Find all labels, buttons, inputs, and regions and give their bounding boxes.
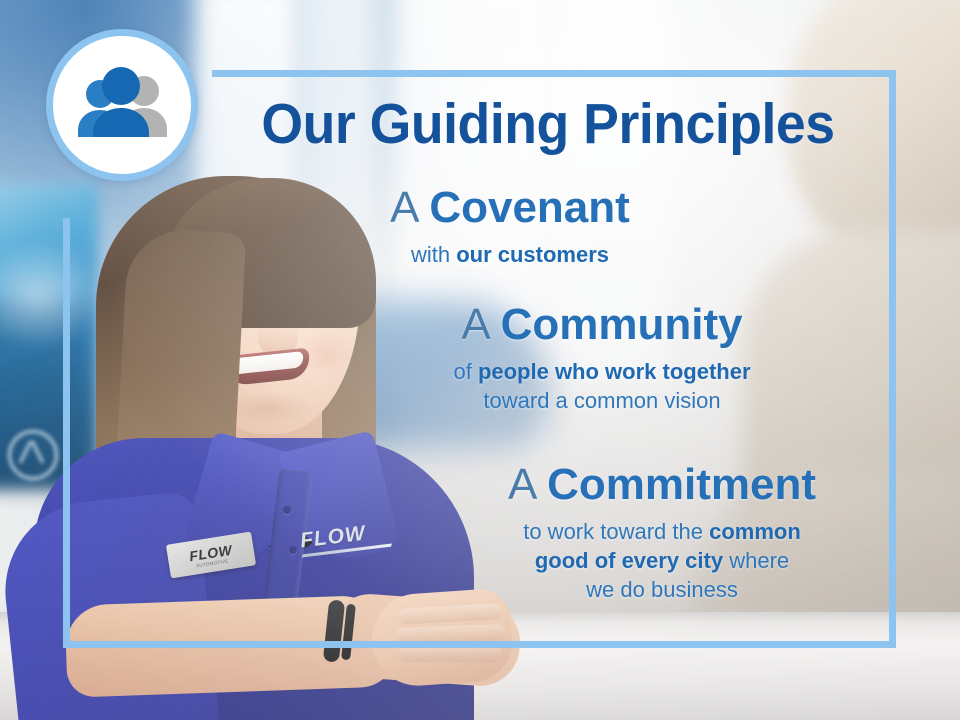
principle-article: A — [508, 460, 535, 509]
principle-commitment: A Commitment to work toward the commongo… — [452, 463, 872, 604]
guiding-principles-banner: FLOW FLOW AUTOMOTIVE — [0, 0, 960, 720]
principle-subtext-line: to work toward the common — [452, 517, 872, 546]
principle-community: A Community of people who work togethert… — [392, 303, 812, 415]
finger — [398, 646, 502, 662]
principle-community-title: A Community — [392, 303, 812, 348]
principle-subtext-emphasis: good of every city — [535, 548, 723, 573]
principle-subtext-emphasis: people who work together — [478, 359, 751, 384]
principle-article: A — [461, 300, 488, 349]
principle-subtext-line: with our customers — [340, 240, 680, 269]
principle-covenant-title: A Covenant — [340, 186, 680, 231]
principle-subtext-line: of people who work together — [392, 357, 812, 386]
principle-commitment-subtext: to work toward the commongood of every c… — [452, 517, 872, 604]
principle-subtext-run: toward a common vision — [483, 388, 720, 413]
principle-keyword: Commitment — [547, 460, 816, 509]
principle-subtext-run: to work toward the — [523, 519, 709, 544]
principle-covenant: A Covenant with our customers — [340, 186, 680, 269]
principle-subtext-emphasis: our customers — [456, 242, 609, 267]
principle-keyword: Community — [501, 300, 743, 349]
page-title: Our Guiding Principles — [238, 96, 858, 153]
principle-subtext-run: we do business — [586, 577, 738, 602]
principle-subtext-emphasis: common — [709, 519, 801, 544]
people-group-icon — [70, 67, 174, 143]
principle-covenant-subtext: with our customers — [340, 240, 680, 269]
principle-subtext-line: we do business — [452, 575, 872, 604]
principle-subtext-run: with — [411, 242, 456, 267]
principle-community-subtext: of people who work togethertoward a comm… — [392, 357, 812, 415]
principle-commitment-title: A Commitment — [452, 463, 872, 508]
polo-button — [289, 546, 297, 554]
polo-button — [283, 506, 291, 514]
principle-subtext-run: of — [453, 359, 477, 384]
principle-keyword: Covenant — [429, 183, 629, 232]
principle-subtext-line: toward a common vision — [392, 386, 812, 415]
principle-subtext-line: good of every city where — [452, 546, 872, 575]
principle-article: A — [390, 183, 417, 232]
people-group-icon-badge — [46, 29, 198, 181]
principle-subtext-run: where — [723, 548, 789, 573]
